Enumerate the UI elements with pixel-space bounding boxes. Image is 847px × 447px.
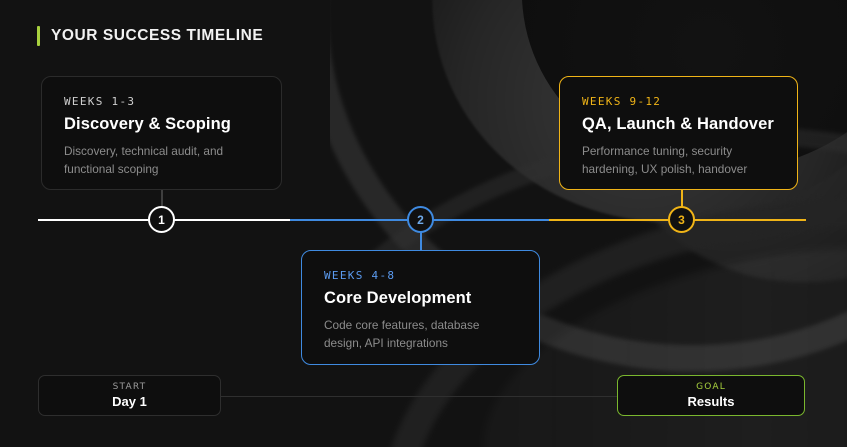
- phase-card-3[interactable]: WEEKS 9-12 QA, Launch & Handover Perform…: [559, 76, 798, 190]
- timeline-segment-3: [549, 219, 806, 221]
- endpoint-connector-line: [221, 396, 617, 397]
- timeline-marker-3-label: 3: [678, 213, 685, 227]
- phase-card-2[interactable]: WEEKS 4-8 Core Development Code core fea…: [301, 250, 540, 365]
- connector-line-phase-1: [161, 190, 163, 209]
- timeline-marker-1[interactable]: 1: [148, 206, 175, 233]
- header-accent-bar: [37, 26, 40, 46]
- timeline-marker-2-label: 2: [417, 213, 424, 227]
- goal-value: Results: [688, 394, 735, 409]
- timeline-infographic: YOUR SUCCESS TIMELINE 1 2 3 WEEKS 1-3 Di…: [0, 0, 847, 447]
- phase-1-weeks: WEEKS 1-3: [64, 95, 259, 108]
- phase-3-title: QA, Launch & Handover: [582, 115, 775, 134]
- start-label: START: [113, 382, 147, 392]
- phase-1-title: Discovery & Scoping: [64, 115, 259, 134]
- background-sheen-diagonal: [0, 0, 228, 436]
- start-box[interactable]: START Day 1: [38, 375, 221, 416]
- goal-label: GOAL: [696, 382, 726, 392]
- timeline-segment-1: [38, 219, 290, 221]
- phase-card-1[interactable]: WEEKS 1-3 Discovery & Scoping Discovery,…: [41, 76, 282, 190]
- timeline-marker-2[interactable]: 2: [407, 206, 434, 233]
- connector-line-phase-3: [681, 190, 683, 212]
- phase-2-description: Code core features, database design, API…: [324, 316, 517, 353]
- page-title: YOUR SUCCESS TIMELINE: [51, 27, 263, 45]
- phase-3-description: Performance tuning, security hardening, …: [582, 142, 775, 179]
- timeline-segment-2: [290, 219, 549, 221]
- start-value: Day 1: [112, 394, 147, 409]
- phase-2-title: Core Development: [324, 289, 517, 308]
- timeline-marker-1-label: 1: [158, 213, 165, 227]
- phase-3-weeks: WEEKS 9-12: [582, 95, 775, 108]
- timeline-marker-3[interactable]: 3: [668, 206, 695, 233]
- phase-2-weeks: WEEKS 4-8: [324, 269, 517, 282]
- connector-line-phase-2: [420, 220, 422, 250]
- page-header: YOUR SUCCESS TIMELINE: [37, 26, 263, 46]
- goal-box[interactable]: GOAL Results: [617, 375, 805, 416]
- phase-1-description: Discovery, technical audit, and function…: [64, 142, 259, 179]
